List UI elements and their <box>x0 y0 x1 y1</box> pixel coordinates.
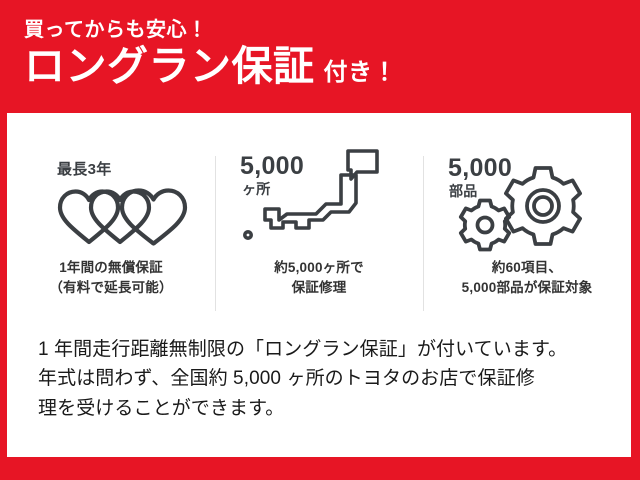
body-line-2: 年式は問わず、全国約 5,000 ヶ所のトヨタのお店で保証修 <box>38 364 608 393</box>
body-line-3: 理を受けることができます。 <box>38 394 608 423</box>
header-title-suffix: 付き！ <box>324 61 398 85</box>
content-card: 最長3年 1年間の無償保証 （有料で延長可能） <box>7 113 631 457</box>
japan-map-icon <box>231 146 407 258</box>
feature-graphic-hearts: 最長3年 <box>23 146 199 258</box>
feature-row: 最長3年 1年間の無償保証 （有料で延長可能） <box>7 146 631 321</box>
feature-covered-parts: 5,000 部品 <box>423 146 631 321</box>
feature-service-locations: 5,000 ヶ所 約5,000ヶ所で <box>215 146 423 321</box>
caption-line-1: 約5,000ヶ所で <box>274 258 364 278</box>
gears-icon <box>439 146 615 258</box>
feature-caption-service-locations: 約5,000ヶ所で 保証修理 <box>274 258 364 299</box>
body-paragraph: 1 年間走行距離無制限の「ロングラン保証」が付いています。 年式は問わず、全国約… <box>38 335 608 423</box>
header-title: ロングラン保証 付き！ <box>24 46 640 87</box>
feature-caption-warranty-term: 1年間の無償保証 （有料で延長可能） <box>49 258 172 299</box>
longrun-warranty-banner: 買ってからも安心！ ロングラン保証 付き！ 最長3年 <box>0 0 640 480</box>
caption-line-2: 保証修理 <box>274 278 364 298</box>
caption-line-2: （有料で延長可能） <box>49 278 172 298</box>
feature-caption-covered-parts: 約60項目、 5,000部品が保証対象 <box>462 258 593 299</box>
three-hearts-icon <box>23 146 199 258</box>
body-line-1: 1 年間走行距離無制限の「ロングラン保証」が付いています。 <box>38 335 608 364</box>
header-kicker: 買ってからも安心！ <box>24 20 640 40</box>
header-title-strong: ロングラン保証 <box>24 46 315 87</box>
banner-header: 買ってからも安心！ ロングラン保証 付き！ <box>0 0 640 113</box>
feature-warranty-term: 最長3年 1年間の無償保証 （有料で延長可能） <box>7 146 215 321</box>
caption-line-1: 約60項目、 <box>462 258 593 278</box>
feature-graphic-map: 5,000 ヶ所 <box>231 146 407 258</box>
caption-line-2: 5,000部品が保証対象 <box>462 278 593 298</box>
caption-line-1: 1年間の無償保証 <box>49 258 172 278</box>
feature-graphic-gears: 5,000 部品 <box>439 146 615 258</box>
